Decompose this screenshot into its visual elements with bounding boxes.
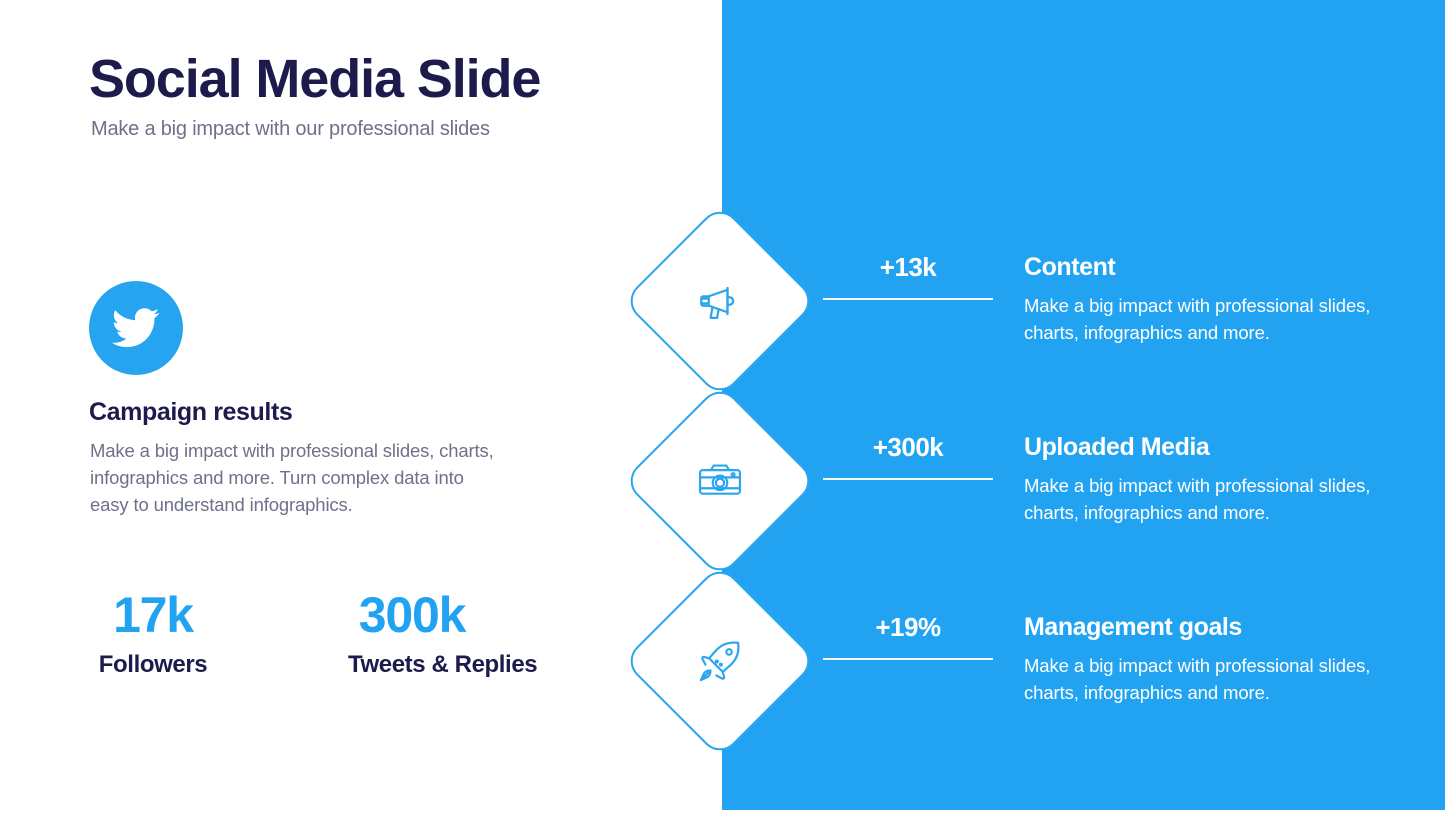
feature-row-content: +13k Content Make a big impact with prof… xyxy=(0,229,1445,374)
feature-description-content: Make a big impact with professional slid… xyxy=(1024,292,1384,346)
metric-value-content: +13k xyxy=(823,251,993,283)
feature-row-uploaded-media: +300k Uploaded Media Make a big impact w… xyxy=(0,409,1445,554)
feature-title-uploaded-media: Uploaded Media xyxy=(1024,431,1384,463)
metric-divider-management-goals xyxy=(823,658,993,660)
metric-divider-uploaded-media xyxy=(823,478,993,480)
metric-block-content: +13k xyxy=(823,251,993,300)
social-media-slide: Social Media Slide Make a big impact wit… xyxy=(0,0,1445,814)
feature-description-uploaded-media: Make a big impact with professional slid… xyxy=(1024,472,1384,526)
metric-block-management-goals: +19% xyxy=(823,611,993,660)
feature-title-management-goals: Management goals xyxy=(1024,611,1384,643)
feature-text-management-goals: Management goals Make a big impact with … xyxy=(1024,611,1384,706)
rocket-icon xyxy=(651,592,789,730)
feature-row-management-goals: +19% Management goals Make a big impact … xyxy=(0,589,1445,734)
metric-value-uploaded-media: +300k xyxy=(823,431,993,463)
camera-icon xyxy=(651,412,789,550)
metric-value-management-goals: +19% xyxy=(823,611,993,643)
metric-divider-content xyxy=(823,298,993,300)
feature-description-management-goals: Make a big impact with professional slid… xyxy=(1024,652,1384,706)
feature-text-content: Content Make a big impact with professio… xyxy=(1024,251,1384,346)
page-subtitle: Make a big impact with our professional … xyxy=(91,115,490,143)
metric-block-uploaded-media: +300k xyxy=(823,431,993,480)
feature-text-uploaded-media: Uploaded Media Make a big impact with pr… xyxy=(1024,431,1384,526)
page-title: Social Media Slide xyxy=(89,47,540,111)
feature-title-content: Content xyxy=(1024,251,1384,283)
megaphone-icon xyxy=(651,232,789,370)
